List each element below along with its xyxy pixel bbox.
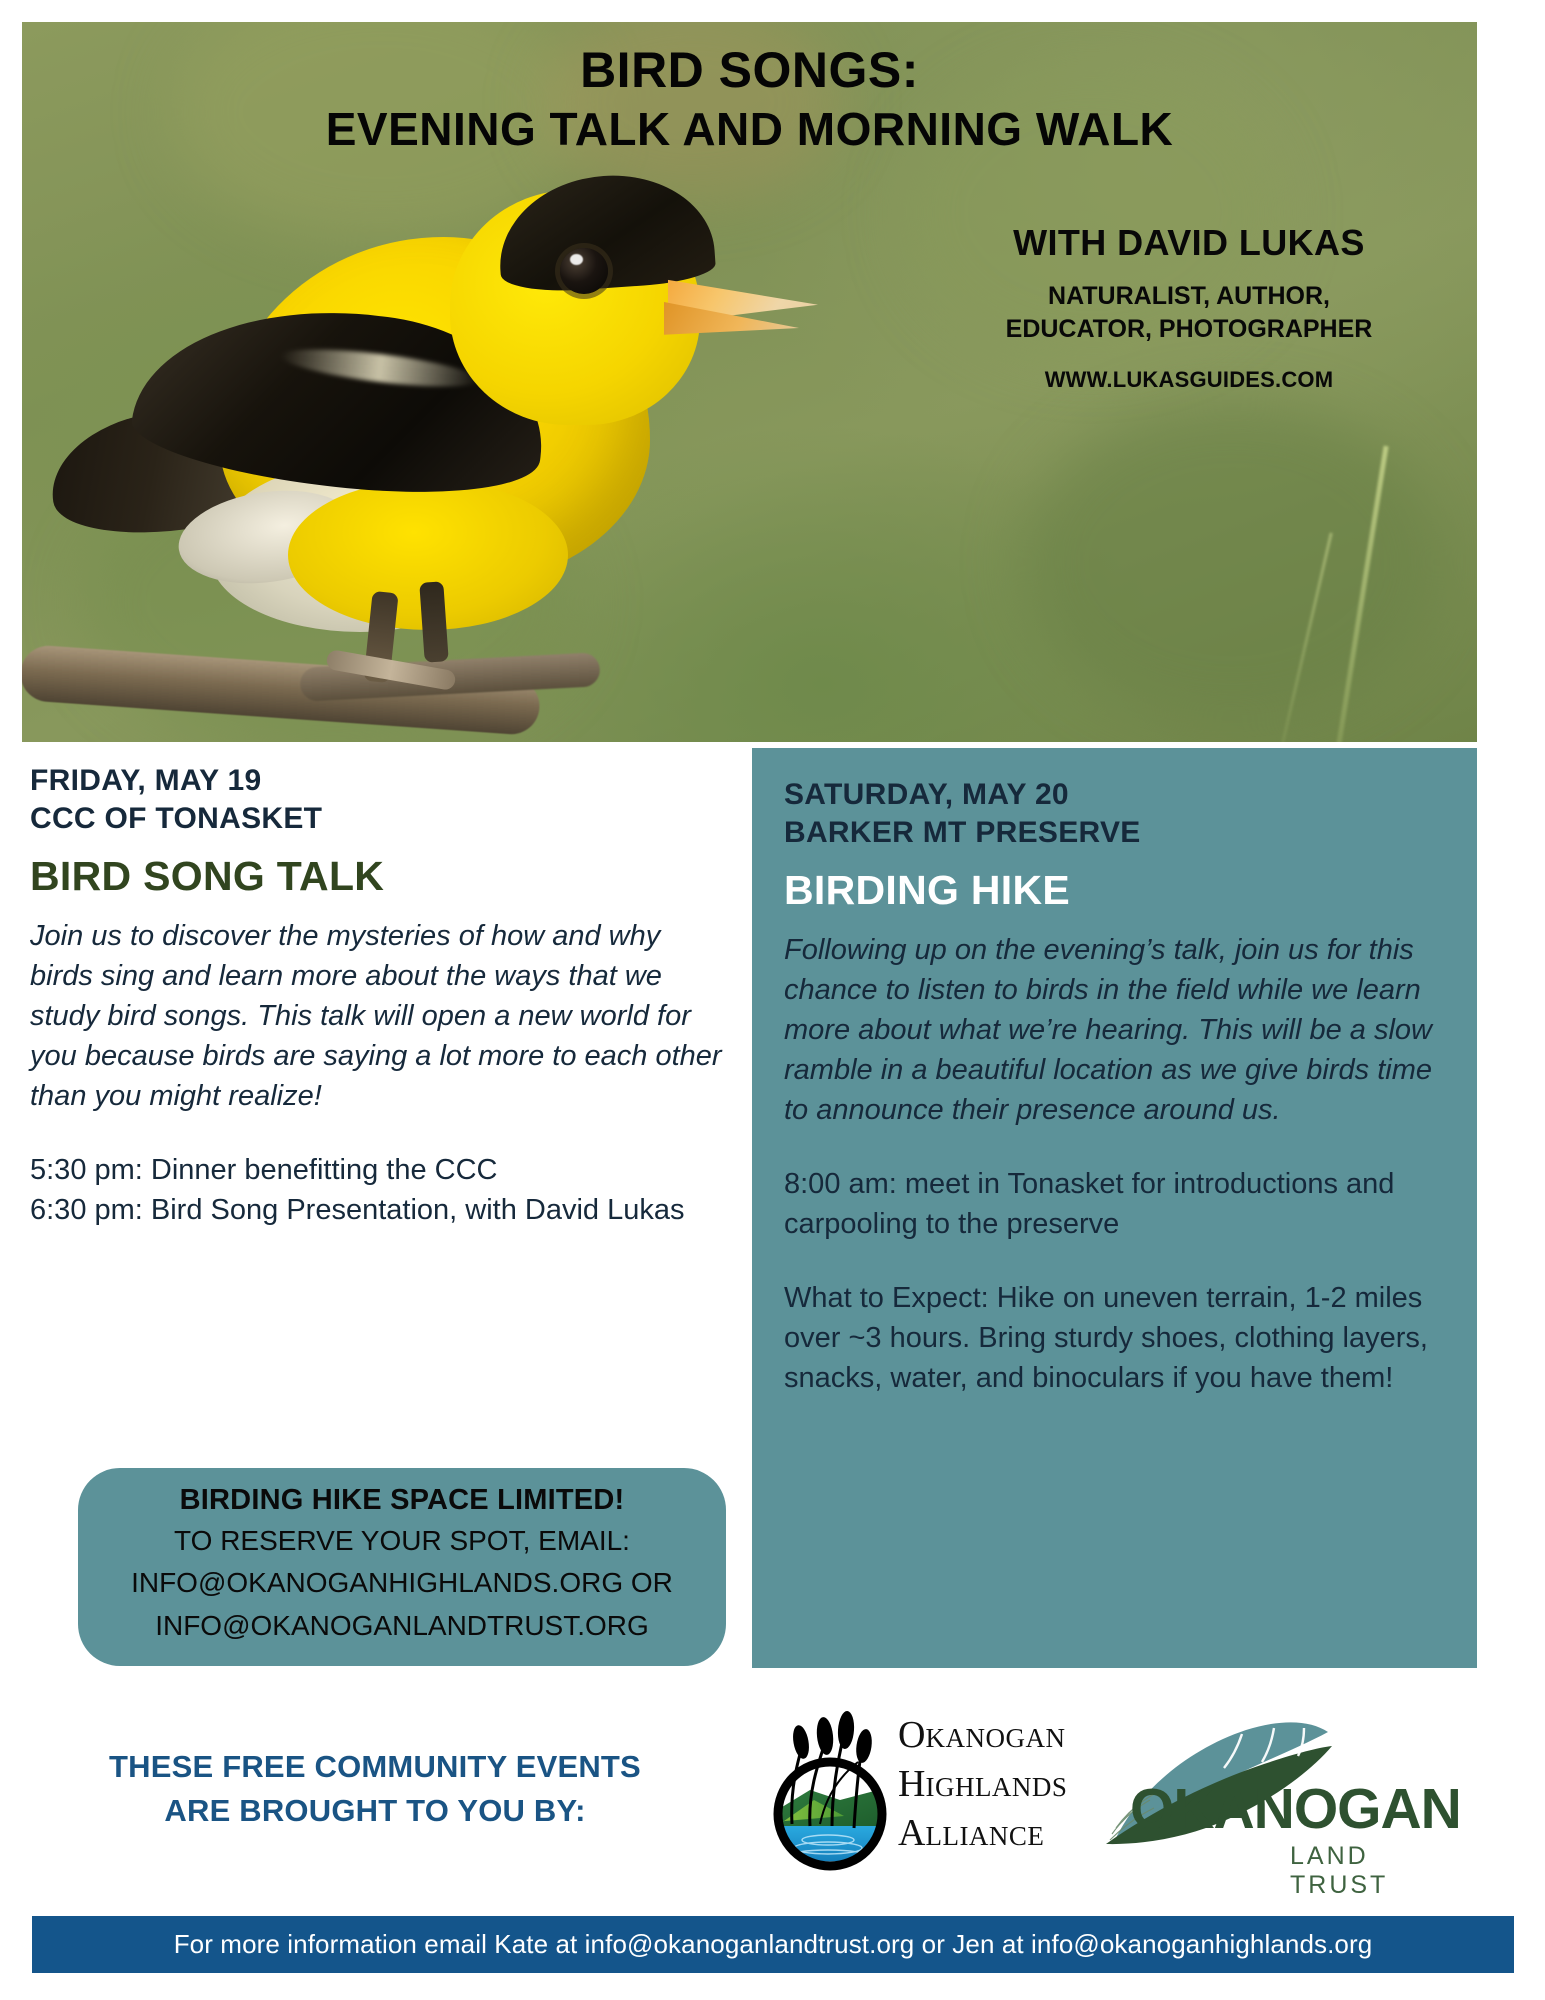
speaker-role-line1: NATURALIST, AUTHOR, xyxy=(949,280,1429,313)
event-date: FRIDAY, MAY 19 xyxy=(30,762,730,800)
oha-line-alliance: A LLIANCE xyxy=(898,1814,1067,1852)
event-column-saturday: SATURDAY, MAY 20 BARKER MT PRESERVE BIRD… xyxy=(752,748,1477,1668)
olt-wordmark: OKANOGAN xyxy=(1130,1776,1461,1842)
oha-word-kanogan: KANOGAN xyxy=(925,1725,1065,1752)
reservation-email-landtrust[interactable]: INFO@OKANOGANLANDTRUST.ORG xyxy=(98,1608,706,1644)
cattail-pond-icon xyxy=(770,1704,890,1872)
event-schedule-saturday: 8:00 am: meet in Tonasket for introducti… xyxy=(784,1164,1443,1244)
oha-word-ighlands: IGHLANDS xyxy=(925,1774,1067,1801)
event-what-to-expect: What to Expect: Hike on uneven terrain, … xyxy=(784,1278,1443,1398)
okanogan-land-trust-logo: OKANOGAN LAND TRUST xyxy=(1090,1698,1470,1898)
flyer-title: BIRD SONGS: EVENING TALK AND MORNING WAL… xyxy=(22,44,1477,154)
oha-line-okanogan: O KANOGAN xyxy=(898,1716,1067,1754)
speaker-role-line2: EDUCATOR, PHOTOGRAPHER xyxy=(949,313,1429,346)
reservation-callout-box: BIRDING HIKE SPACE LIMITED! TO RESERVE Y… xyxy=(78,1468,726,1666)
footer-contact-text[interactable]: For more information email Kate at info@… xyxy=(174,1929,1373,1960)
reservation-email-highlands[interactable]: INFO@OKANOGANHIGHLANDS.ORG OR xyxy=(98,1565,706,1601)
oha-wordmark: O KANOGAN H IGHLANDS A LLIANCE xyxy=(898,1716,1067,1863)
speaker-website[interactable]: WWW.LUKASGUIDES.COM xyxy=(949,367,1429,393)
olt-subtitle: LAND TRUST xyxy=(1290,1842,1470,1900)
event-title-birding-hike: BIRDING HIKE xyxy=(784,867,1443,914)
flyer-title-line1: BIRD SONGS: xyxy=(22,44,1477,97)
sponsor-intro-text: THESE FREE COMMUNITY EVENTS ARE BROUGHT … xyxy=(55,1745,695,1833)
reservation-headline: BIRDING HIKE SPACE LIMITED! xyxy=(98,1484,706,1517)
speaker-role: NATURALIST, AUTHOR, EDUCATOR, PHOTOGRAPH… xyxy=(949,280,1429,345)
oha-letter-h: H xyxy=(898,1765,925,1803)
event-column-friday: FRIDAY, MAY 19 CCC OF TONASKET BIRD SONG… xyxy=(30,762,730,1230)
speaker-block: WITH DAVID LUKAS NATURALIST, AUTHOR, EDU… xyxy=(949,222,1429,393)
goldfinch-bird-image xyxy=(50,162,810,722)
oha-line-highlands: H IGHLANDS xyxy=(898,1765,1067,1803)
flyer-title-line2: EVENING TALK AND MORNING WALK xyxy=(22,105,1477,154)
event-description-saturday: Following up on the evening’s talk, join… xyxy=(784,930,1443,1130)
event-description-friday: Join us to discover the mysteries of how… xyxy=(30,916,730,1116)
event-date-venue-friday: FRIDAY, MAY 19 CCC OF TONASKET xyxy=(30,762,730,837)
sponsor-intro-line1: THESE FREE COMMUNITY EVENTS xyxy=(55,1745,695,1789)
sponsor-logos: O KANOGAN H IGHLANDS A LLIANCE xyxy=(760,1690,1480,1905)
hero-photo-banner: BIRD SONGS: EVENING TALK AND MORNING WAL… xyxy=(22,22,1477,742)
event-title-bird-song-talk: BIRD SONG TALK xyxy=(30,853,730,900)
sponsor-intro-line2: ARE BROUGHT TO YOU BY: xyxy=(55,1789,695,1833)
oha-word-lliance: LLIANCE xyxy=(925,1823,1044,1850)
event-date-venue-saturday: SATURDAY, MAY 20 BARKER MT PRESERVE xyxy=(784,776,1443,851)
oha-letter-a: A xyxy=(898,1814,925,1852)
footer-contact-bar: For more information email Kate at info@… xyxy=(32,1916,1514,1973)
photo-bokeh-blur xyxy=(1022,402,1442,722)
event-date: SATURDAY, MAY 20 xyxy=(784,776,1443,814)
bird-eye xyxy=(560,248,608,294)
event-venue: BARKER MT PRESERVE xyxy=(784,814,1443,852)
bird-eye-highlight xyxy=(570,254,583,265)
oha-logo: O KANOGAN H IGHLANDS A LLIANCE xyxy=(770,1690,1090,1890)
oha-letter-o: O xyxy=(898,1716,925,1754)
event-schedule-friday: 5:30 pm: Dinner benefitting the CCC 6:30… xyxy=(30,1150,730,1230)
event-venue: CCC OF TONASKET xyxy=(30,800,730,838)
reservation-instruction: TO RESERVE YOUR SPOT, EMAIL: xyxy=(98,1523,706,1559)
speaker-name: WITH DAVID LUKAS xyxy=(949,222,1429,264)
